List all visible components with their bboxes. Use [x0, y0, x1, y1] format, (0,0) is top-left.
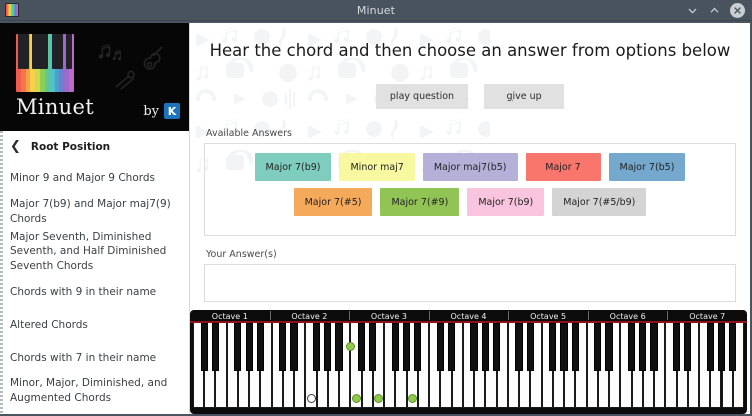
answer-chip-0-2[interactable]: Major maj7(b5)	[423, 153, 518, 181]
answer-chip-0-1[interactable]: Minor maj7	[339, 153, 414, 181]
black-key-o1-d1[interactable]	[212, 323, 219, 371]
music-notes-decor-icon	[98, 43, 124, 71]
black-key-o1-d0[interactable]	[201, 323, 208, 371]
black-key-o4-d3[interactable]	[470, 323, 477, 371]
sidebar-item-6[interactable]: Minor, Major, Diminished, and Augmented …	[10, 374, 181, 407]
black-key-o3-d5[interactable]	[414, 323, 421, 371]
black-key-o5-d4[interactable]	[560, 323, 567, 371]
black-key-o4-d4[interactable]	[482, 323, 489, 371]
your-answer-box[interactable]	[204, 264, 736, 302]
note-marker-4	[408, 394, 417, 403]
chevron-left-icon[interactable]: ❮	[10, 140, 21, 153]
your-answer-label: Your Answer(s)	[206, 249, 750, 260]
black-key-o7-d4[interactable]	[718, 323, 725, 371]
answer-chip-0-4[interactable]: Major 7(b5)	[609, 153, 686, 181]
octave-label-bar: Octave 1Octave 2Octave 3Octave 4Octave 5…	[190, 310, 747, 323]
black-key-o5-d3[interactable]	[549, 323, 556, 371]
play-question-button[interactable]: play question	[376, 84, 468, 109]
main-content: Hear the chord and then choose an answer…	[190, 23, 750, 414]
sidebar-item-4[interactable]: Altered Chords	[10, 308, 181, 341]
close-icon[interactable]	[730, 3, 745, 18]
piano-keyboard[interactable]: Octave 1Octave 2Octave 3Octave 4Octave 5…	[190, 310, 747, 414]
black-key-o2-d4[interactable]	[324, 323, 331, 371]
app-logo-panel: Minuet by K	[0, 23, 189, 131]
octave-label-6: Octave 6	[588, 310, 668, 321]
octave-label-7: Octave 7	[667, 310, 747, 321]
black-key-o4-d1[interactable]	[448, 323, 455, 371]
black-key-o7-d3[interactable]	[707, 323, 714, 371]
sidebar-scrollbar[interactable]	[0, 131, 3, 414]
note-marker-0	[307, 394, 316, 403]
note-marker-3	[374, 394, 383, 403]
by-kde-credit: by K	[143, 103, 180, 119]
logo-black-key	[23, 34, 29, 69]
black-key-o6-d4[interactable]	[639, 323, 646, 371]
action-buttons: play question give up	[190, 84, 750, 109]
answer-row: Major 7(#5)Major 7(#9)Major 7(b9)Major 7…	[205, 188, 735, 216]
drumsticks-decor-icon	[113, 70, 139, 96]
sidebar-item-5[interactable]: Chords with 7 in their name	[10, 341, 181, 374]
maximize-icon[interactable]	[708, 4, 721, 17]
octave-label-2: Octave 2	[270, 310, 350, 321]
sidebar-item-2[interactable]: Major Seventh, Diminished Seventh, and H…	[10, 228, 181, 275]
note-marker-1	[346, 342, 355, 351]
black-key-o3-d0[interactable]	[358, 323, 365, 371]
minimize-icon[interactable]	[686, 4, 699, 17]
give-up-button[interactable]: give up	[484, 84, 564, 109]
black-key-o7-d1[interactable]	[684, 323, 691, 371]
logo-black-key	[42, 34, 48, 69]
page-title: Hear the chord and then choose an answer…	[190, 23, 750, 60]
app-name-text: Minuet	[16, 95, 94, 119]
app-window: Minuet	[0, 0, 752, 416]
black-key-o2-d1[interactable]	[290, 323, 297, 371]
minuet-piano-icon	[5, 3, 19, 17]
octave-label-1: Octave 1	[190, 310, 270, 321]
note-marker-2	[352, 394, 361, 403]
sidebar-item-3[interactable]: Chords with 9 in their name	[10, 275, 181, 308]
by-label: by	[143, 104, 159, 119]
rainbow-piano-logo-icon	[16, 34, 74, 92]
window-controls	[686, 3, 752, 18]
black-key-o6-d3[interactable]	[628, 323, 635, 371]
octave-label-5: Octave 5	[508, 310, 588, 321]
black-key-o7-d5[interactable]	[729, 323, 736, 371]
black-key-o6-d0[interactable]	[594, 323, 601, 371]
window-body: Minuet by K ❮ Root Position Minor 9 and …	[0, 21, 752, 416]
black-key-o4-d5[interactable]	[493, 323, 500, 371]
black-key-o2-d3[interactable]	[313, 323, 320, 371]
black-key-o7-d0[interactable]	[673, 323, 680, 371]
logo-black-key	[66, 34, 72, 69]
piano-keys[interactable]	[193, 323, 744, 408]
answer-chip-0-0[interactable]: Major 7(b9)	[255, 153, 332, 181]
answer-chip-0-3[interactable]: Major 7	[526, 153, 601, 181]
black-key-o6-d5[interactable]	[650, 323, 657, 371]
available-answers-box: Major 7(b9)Minor maj7Major maj7(b5)Major…	[204, 143, 736, 236]
answer-chip-1-2[interactable]: Major 7(b9)	[467, 188, 544, 216]
sidebar-current-category: Root Position	[31, 141, 110, 153]
title-bar: Minuet	[0, 0, 752, 21]
black-key-o3-d1[interactable]	[369, 323, 376, 371]
answer-chip-1-0[interactable]: Major 7(#5)	[294, 188, 373, 216]
black-key-o6-d1[interactable]	[605, 323, 612, 371]
sidebar-exercise-list[interactable]: Minor 9 and Major 9 ChordsMajor 7(b9) an…	[0, 162, 189, 414]
available-answers-section: Available Answers Major 7(b9)Minor maj7M…	[190, 128, 750, 236]
logo-black-key	[57, 34, 63, 69]
window-title: Minuet	[0, 4, 752, 17]
black-key-o1-d4[interactable]	[246, 323, 253, 371]
available-answers-label: Available Answers	[206, 128, 750, 139]
sidebar-item-1[interactable]: Major 7(b9) and Major maj7(9) Chords	[10, 195, 181, 228]
black-key-o1-d3[interactable]	[234, 323, 241, 371]
answer-chip-1-1[interactable]: Major 7(#9)	[380, 188, 459, 216]
black-key-o3-d4[interactable]	[403, 323, 410, 371]
sidebar: Minuet by K ❮ Root Position Minor 9 and …	[0, 23, 190, 414]
black-key-o1-d5[interactable]	[257, 323, 264, 371]
octave-label-3: Octave 3	[349, 310, 429, 321]
kde-logo-icon: K	[164, 103, 180, 119]
give-up-label-rest: ive up	[513, 91, 542, 102]
black-key-o5-d0[interactable]	[515, 323, 522, 371]
black-key-o3-d3[interactable]	[392, 323, 399, 371]
black-key-o2-d5[interactable]	[335, 323, 342, 371]
black-key-o2-d0[interactable]	[279, 323, 286, 371]
black-key-o5-d5[interactable]	[572, 323, 579, 371]
sidebar-item-0[interactable]: Minor 9 and Major 9 Chords	[10, 162, 181, 195]
sidebar-item-7[interactable]: Lots of Chords	[10, 407, 181, 414]
sidebar-back-header[interactable]: ❮ Root Position	[0, 131, 189, 162]
black-key-o5-d1[interactable]	[527, 323, 534, 371]
answer-row: Major 7(b9)Minor maj7Major maj7(b5)Major…	[205, 153, 735, 181]
your-answer-section: Your Answer(s)	[190, 249, 750, 302]
black-key-o4-d0[interactable]	[437, 323, 444, 371]
answer-chip-1-3[interactable]: Major 7(#5/b9)	[552, 188, 646, 216]
octave-label-4: Octave 4	[429, 310, 509, 321]
